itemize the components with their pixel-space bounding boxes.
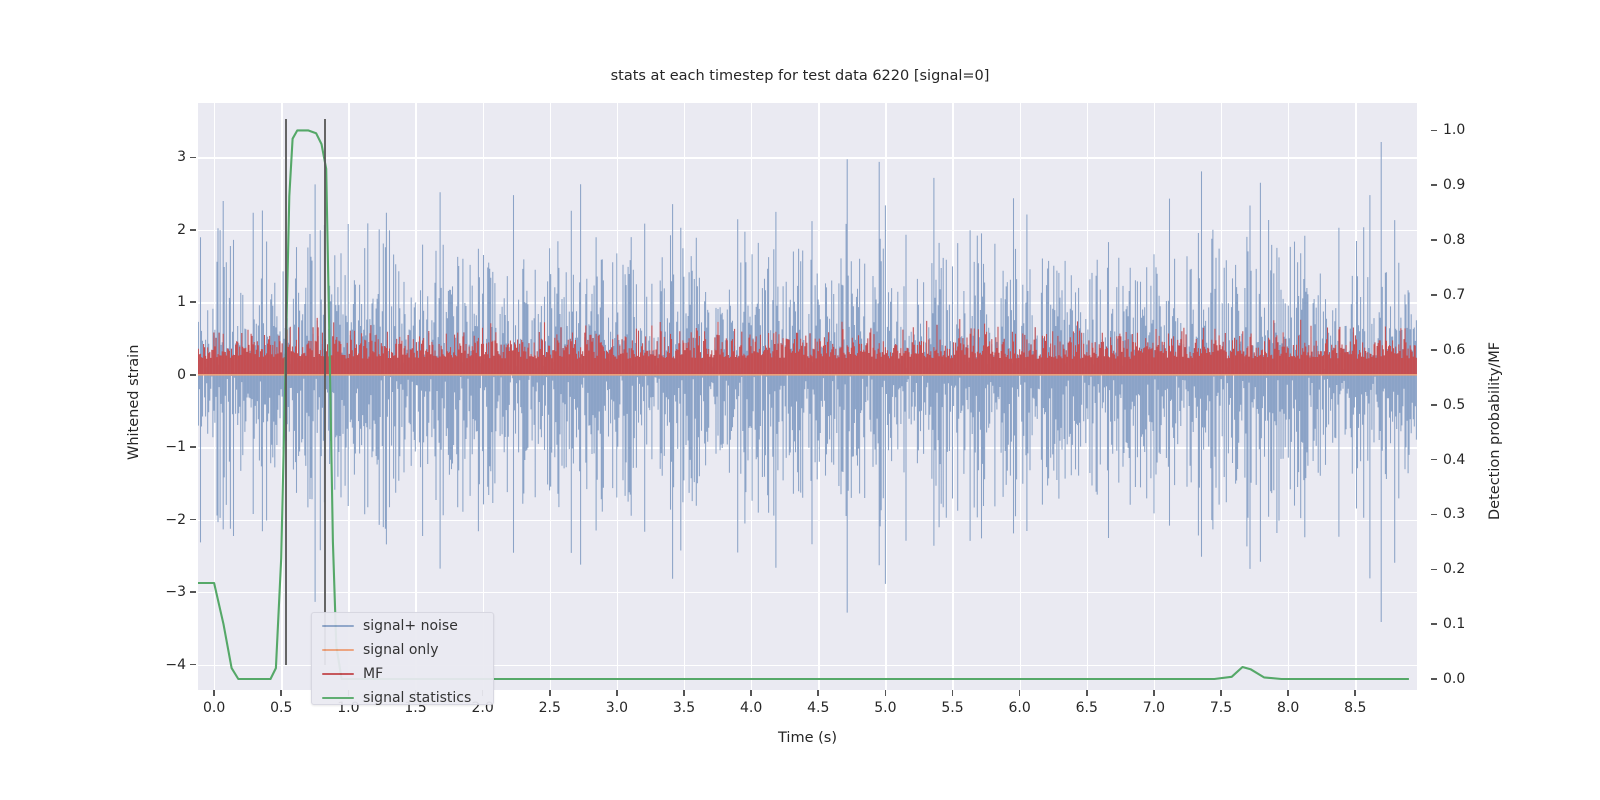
x-tick-label: 5.5 bbox=[941, 700, 963, 716]
x-tick-label: 8.0 bbox=[1277, 700, 1299, 716]
x-tick-mark bbox=[1019, 690, 1021, 696]
x-tick-mark bbox=[683, 690, 685, 696]
x-tick-mark bbox=[280, 690, 282, 696]
y-tick-label-right: 0.3 bbox=[1443, 506, 1465, 522]
legend-swatch-icon bbox=[322, 649, 354, 651]
y-tick-mark-left bbox=[190, 157, 196, 159]
x-tick-label: 7.0 bbox=[1143, 700, 1165, 716]
legend-swatch-icon bbox=[322, 697, 354, 699]
x-tick-label: 8.5 bbox=[1344, 700, 1366, 716]
y-tick-mark-right bbox=[1431, 239, 1437, 241]
legend-item-signal-noise[interactable]: signal+ noise bbox=[312, 615, 493, 637]
signal-noise-trace bbox=[198, 142, 1416, 622]
x-tick-label: 5.0 bbox=[874, 700, 896, 716]
x-tick-mark bbox=[1086, 690, 1088, 696]
y-tick-mark-right bbox=[1431, 678, 1437, 680]
legend-item-signal-only[interactable]: signal only bbox=[312, 639, 493, 661]
y-tick-mark-right bbox=[1431, 623, 1437, 625]
y-axis-label-left: Whitened strain bbox=[126, 345, 142, 460]
y-tick-mark-right bbox=[1431, 514, 1437, 516]
vertical-marker-line bbox=[324, 119, 326, 665]
x-tick-mark bbox=[1220, 690, 1222, 696]
x-tick-label: 4.5 bbox=[807, 700, 829, 716]
x-tick-label: 3.0 bbox=[606, 700, 628, 716]
x-tick-label: 6.5 bbox=[1076, 700, 1098, 716]
y-axis-label-right: Detection probability/MF bbox=[1487, 342, 1503, 520]
x-tick-mark bbox=[952, 690, 954, 696]
y-tick-label-left: −2 bbox=[165, 512, 186, 528]
x-tick-label: 7.5 bbox=[1210, 700, 1232, 716]
y-tick-label-left: 2 bbox=[177, 222, 186, 238]
y-tick-label-right: 0.2 bbox=[1443, 561, 1465, 577]
y-tick-label-right: 0.4 bbox=[1443, 452, 1465, 468]
matched-filter-trace bbox=[198, 318, 1416, 375]
y-tick-mark-right bbox=[1431, 349, 1437, 351]
y-tick-label-right: 0.0 bbox=[1443, 671, 1465, 687]
x-tick-mark bbox=[213, 690, 215, 696]
x-tick-label: 2.5 bbox=[539, 700, 561, 716]
y-tick-label-left: −4 bbox=[165, 657, 186, 673]
y-tick-mark-right bbox=[1431, 184, 1437, 186]
y-tick-mark-left bbox=[190, 446, 196, 448]
x-tick-mark bbox=[549, 690, 551, 696]
legend-label: signal only bbox=[363, 642, 438, 658]
legend-item-signal-statistics[interactable]: signal statistics bbox=[312, 687, 493, 709]
x-tick-label: 6.0 bbox=[1008, 700, 1030, 716]
y-tick-label-left: 1 bbox=[177, 294, 186, 310]
y-tick-label-right: 0.7 bbox=[1443, 287, 1465, 303]
x-tick-mark bbox=[1287, 690, 1289, 696]
chart-title: stats at each timestep for test data 622… bbox=[0, 68, 1600, 84]
legend-item-mf[interactable]: MF bbox=[312, 663, 493, 685]
x-tick-label: 0.5 bbox=[270, 700, 292, 716]
y-tick-mark-right bbox=[1431, 569, 1437, 571]
y-tick-mark-left bbox=[190, 664, 196, 666]
y-tick-mark-left bbox=[190, 229, 196, 231]
x-tick-mark bbox=[1354, 690, 1356, 696]
figure-canvas: stats at each timestep for test data 622… bbox=[0, 0, 1600, 800]
x-tick-label: 0.0 bbox=[203, 700, 225, 716]
legend-label: signal+ noise bbox=[363, 618, 458, 634]
vertical-marker-line bbox=[285, 119, 287, 665]
x-axis-ticks: 0.00.51.01.52.02.53.03.54.04.55.05.56.06… bbox=[0, 700, 1600, 724]
y-tick-mark-right bbox=[1431, 130, 1437, 132]
data-traces bbox=[198, 103, 1417, 690]
legend-swatch-icon bbox=[322, 625, 354, 627]
x-tick-mark bbox=[817, 690, 819, 696]
y-tick-label-right: 0.8 bbox=[1443, 232, 1465, 248]
x-tick-mark bbox=[616, 690, 618, 696]
x-axis-label: Time (s) bbox=[198, 730, 1417, 746]
y-tick-label-left: −1 bbox=[165, 439, 186, 455]
x-tick-label: 3.5 bbox=[673, 700, 695, 716]
legend[interactable]: signal+ noisesignal onlyMFsignal statist… bbox=[311, 612, 494, 705]
y-tick-label-right: 0.9 bbox=[1443, 177, 1465, 193]
x-tick-mark bbox=[885, 690, 887, 696]
y-tick-label-left: 0 bbox=[177, 367, 186, 383]
plot-area bbox=[198, 103, 1417, 690]
y-axis-left-ticks: 3210−1−2−3−4 bbox=[150, 0, 186, 800]
y-tick-label-right: 1.0 bbox=[1443, 122, 1465, 138]
x-tick-mark bbox=[750, 690, 752, 696]
y-tick-mark-right bbox=[1431, 459, 1437, 461]
series-matched-filter bbox=[198, 318, 1416, 375]
x-tick-label: 4.0 bbox=[740, 700, 762, 716]
legend-label: signal statistics bbox=[363, 690, 471, 706]
y-tick-label-left: 3 bbox=[177, 149, 186, 165]
y-tick-label-right: 0.6 bbox=[1443, 342, 1465, 358]
y-tick-mark-left bbox=[190, 519, 196, 521]
x-tick-mark bbox=[1153, 690, 1155, 696]
y-tick-mark-left bbox=[190, 591, 196, 593]
legend-swatch-icon bbox=[322, 673, 354, 675]
y-tick-mark-right bbox=[1431, 294, 1437, 296]
y-tick-mark-right bbox=[1431, 404, 1437, 406]
y-tick-label-left: −3 bbox=[165, 584, 186, 600]
y-tick-label-right: 0.1 bbox=[1443, 616, 1465, 632]
series-signal-noise bbox=[198, 142, 1416, 622]
y-tick-mark-left bbox=[190, 374, 196, 376]
y-tick-mark-left bbox=[190, 301, 196, 303]
y-axis-right-ticks: 1.00.90.80.70.60.50.40.30.20.10.0 bbox=[1437, 0, 1483, 800]
y-tick-label-right: 0.5 bbox=[1443, 397, 1465, 413]
legend-label: MF bbox=[363, 666, 383, 682]
